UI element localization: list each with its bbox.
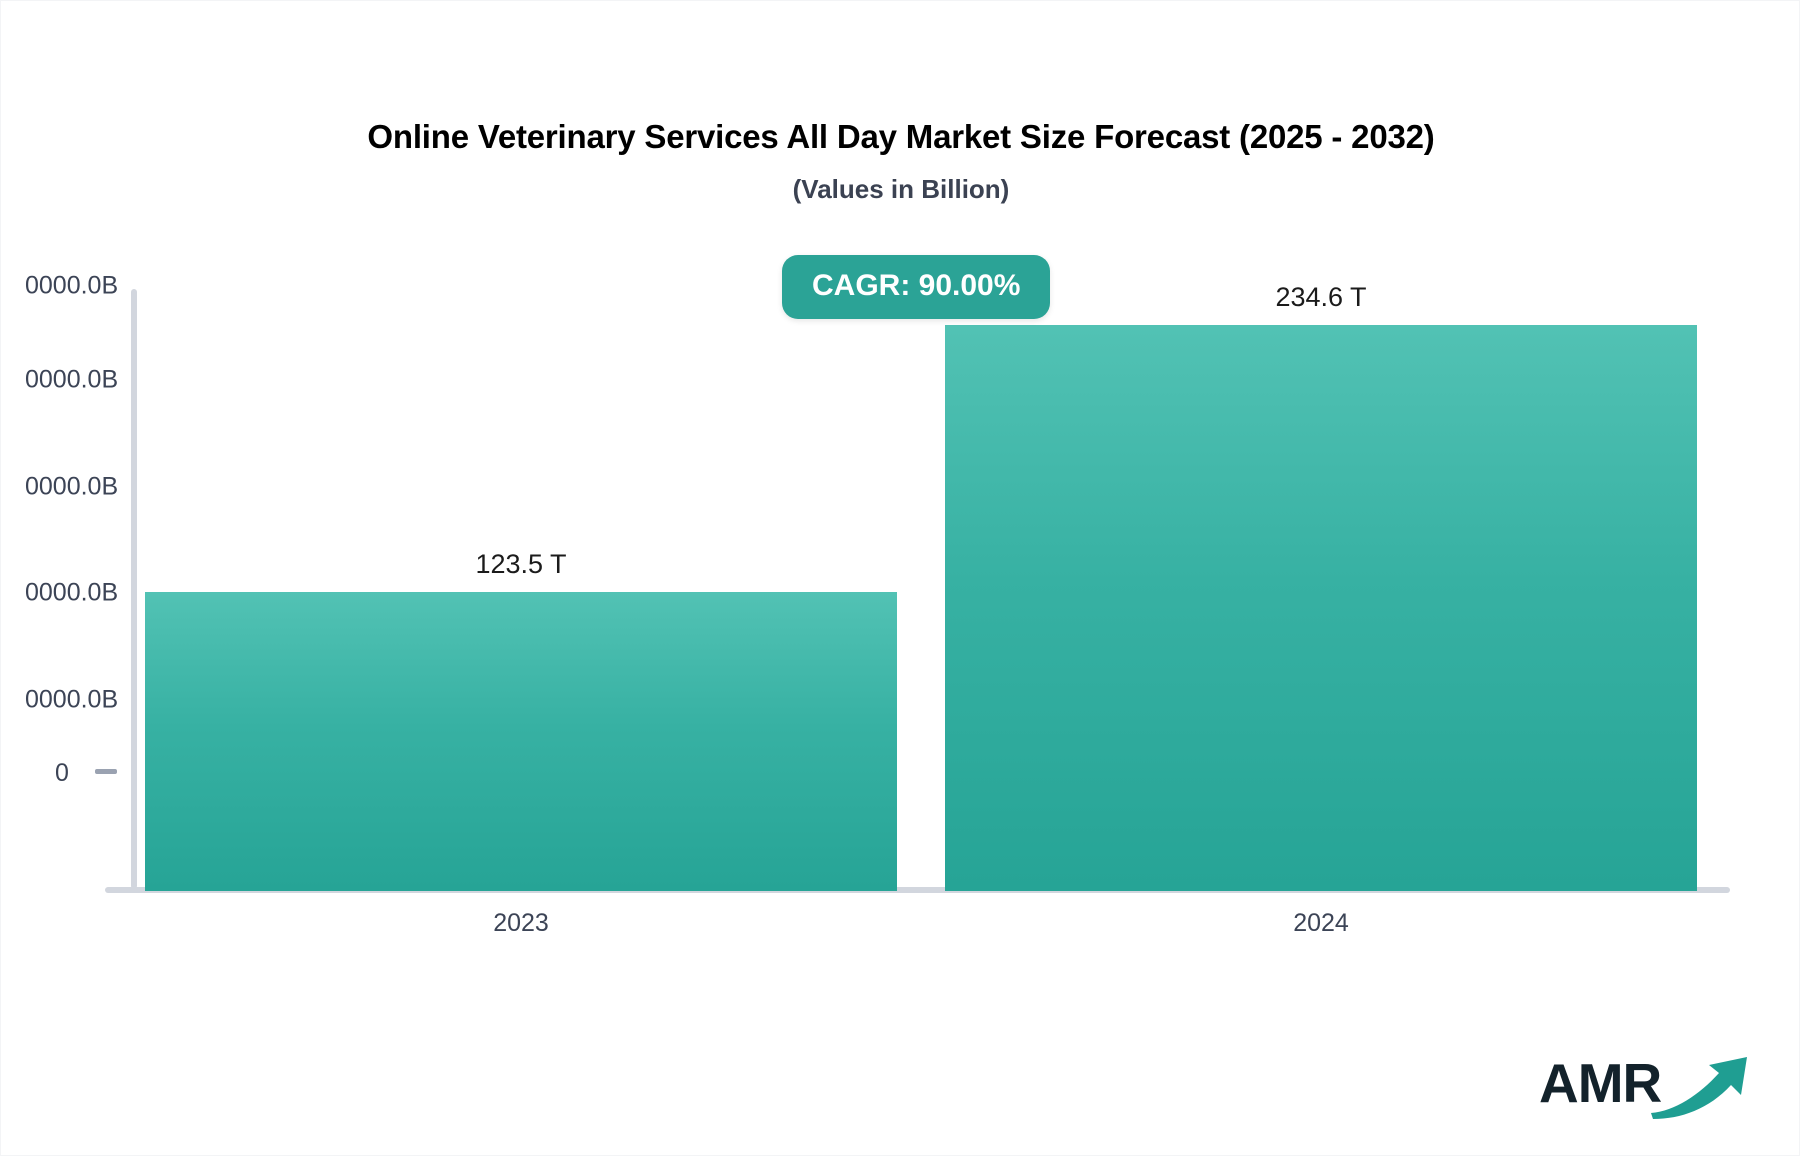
y-axis-zero-label: 0 — [55, 759, 69, 788]
y-axis-tick-label: 0000.0B — [25, 579, 145, 608]
y-axis-tick-label: 0000.0B — [25, 472, 145, 501]
plot-area: 0000.0B0000.0B0000.0B0000.0B0000.0B 123.… — [131, 286, 1731, 891]
amr-logo-text: AMR — [1539, 1056, 1661, 1111]
chart-subtitle: (Values in Billion) — [1, 174, 1800, 205]
x-axis-tick-label-2024: 2024 — [945, 909, 1697, 938]
bar-value-label: 123.5 T — [145, 549, 897, 580]
trend-up-arrow-icon — [1647, 1051, 1757, 1126]
chart-canvas: Online Veterinary Services All Day Marke… — [0, 0, 1800, 1156]
y-axis-zero-tick-mark — [95, 769, 117, 774]
y-axis-tick-label: 0000.0B — [25, 365, 145, 394]
bar-2024[interactable] — [945, 325, 1697, 891]
amr-logo: AMR — [1539, 1041, 1757, 1126]
bar-value-label: 234.6 T — [945, 282, 1697, 313]
x-axis-tick-label-2023: 2023 — [145, 909, 897, 938]
y-axis-tick-label: 0000.0B — [25, 685, 145, 714]
y-axis-tick-label: 0000.0B — [25, 272, 145, 301]
bar-2023[interactable] — [145, 592, 897, 891]
cagr-badge: CAGR: 90.00% — [782, 255, 1050, 319]
chart-title: Online Veterinary Services All Day Marke… — [1, 118, 1800, 156]
